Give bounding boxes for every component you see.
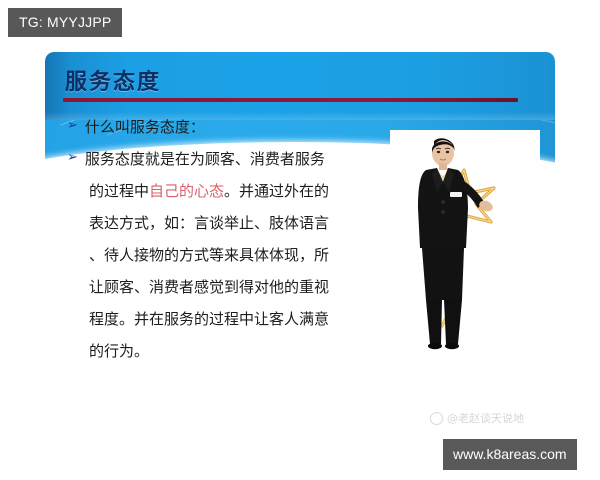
line-2-post: 。并通过外在的 (224, 182, 329, 200)
bullet-item-2: ➢ 服务态度就是在为顾客、消费者服务 (67, 148, 325, 169)
bullet-text-2: 服务态度就是在为顾客、消费者服务 (85, 148, 325, 169)
slide-title: 服务态度 (65, 64, 161, 96)
watermark-logo-icon (430, 412, 443, 425)
staff-and-star-illustration (390, 130, 540, 355)
paragraph-line-2: 的过程中自己的心态。并通过外在的 (89, 180, 329, 201)
highlighted-phrase: 自己的心态 (149, 182, 224, 200)
watermark: @老赵谈天说地 (430, 410, 524, 426)
arrow-bullet-icon: ➢ (67, 116, 78, 136)
channel-tag-badge: TG: MYYJJPP (8, 8, 122, 37)
paragraph-line-4: 、待人接物的方式等来具体体现，所 (89, 244, 329, 265)
paragraph-line-3: 表达方式，如：言谈举止、肢体语言 (89, 212, 329, 233)
paragraph-line-6: 程度。并在服务的过程中让客人满意 (89, 308, 329, 329)
title-underline-rule (63, 98, 518, 102)
bullet-item-1: ➢ 什么叫服务态度： (67, 116, 205, 137)
paragraph-line-5: 让顾客、消费者感觉到得对他的重视 (89, 276, 329, 297)
arrow-bullet-icon: ➢ (67, 148, 78, 168)
paragraph-line-7: 的行为。 (89, 340, 149, 361)
site-url-badge: www.k8areas.com (443, 439, 577, 470)
line-2-pre: 的过程中 (89, 182, 149, 200)
service-staff-photo (390, 130, 540, 355)
watermark-handle: @老赵谈天说地 (447, 410, 524, 426)
bullet-text-1: 什么叫服务态度： (85, 116, 205, 137)
slide-header-band: 服务态度 (45, 52, 555, 120)
presentation-slide: 服务态度 ➢ 什么叫服务态度： ➢ 服务态度就是在为顾客、消费者服务 的过程中自… (45, 52, 555, 452)
